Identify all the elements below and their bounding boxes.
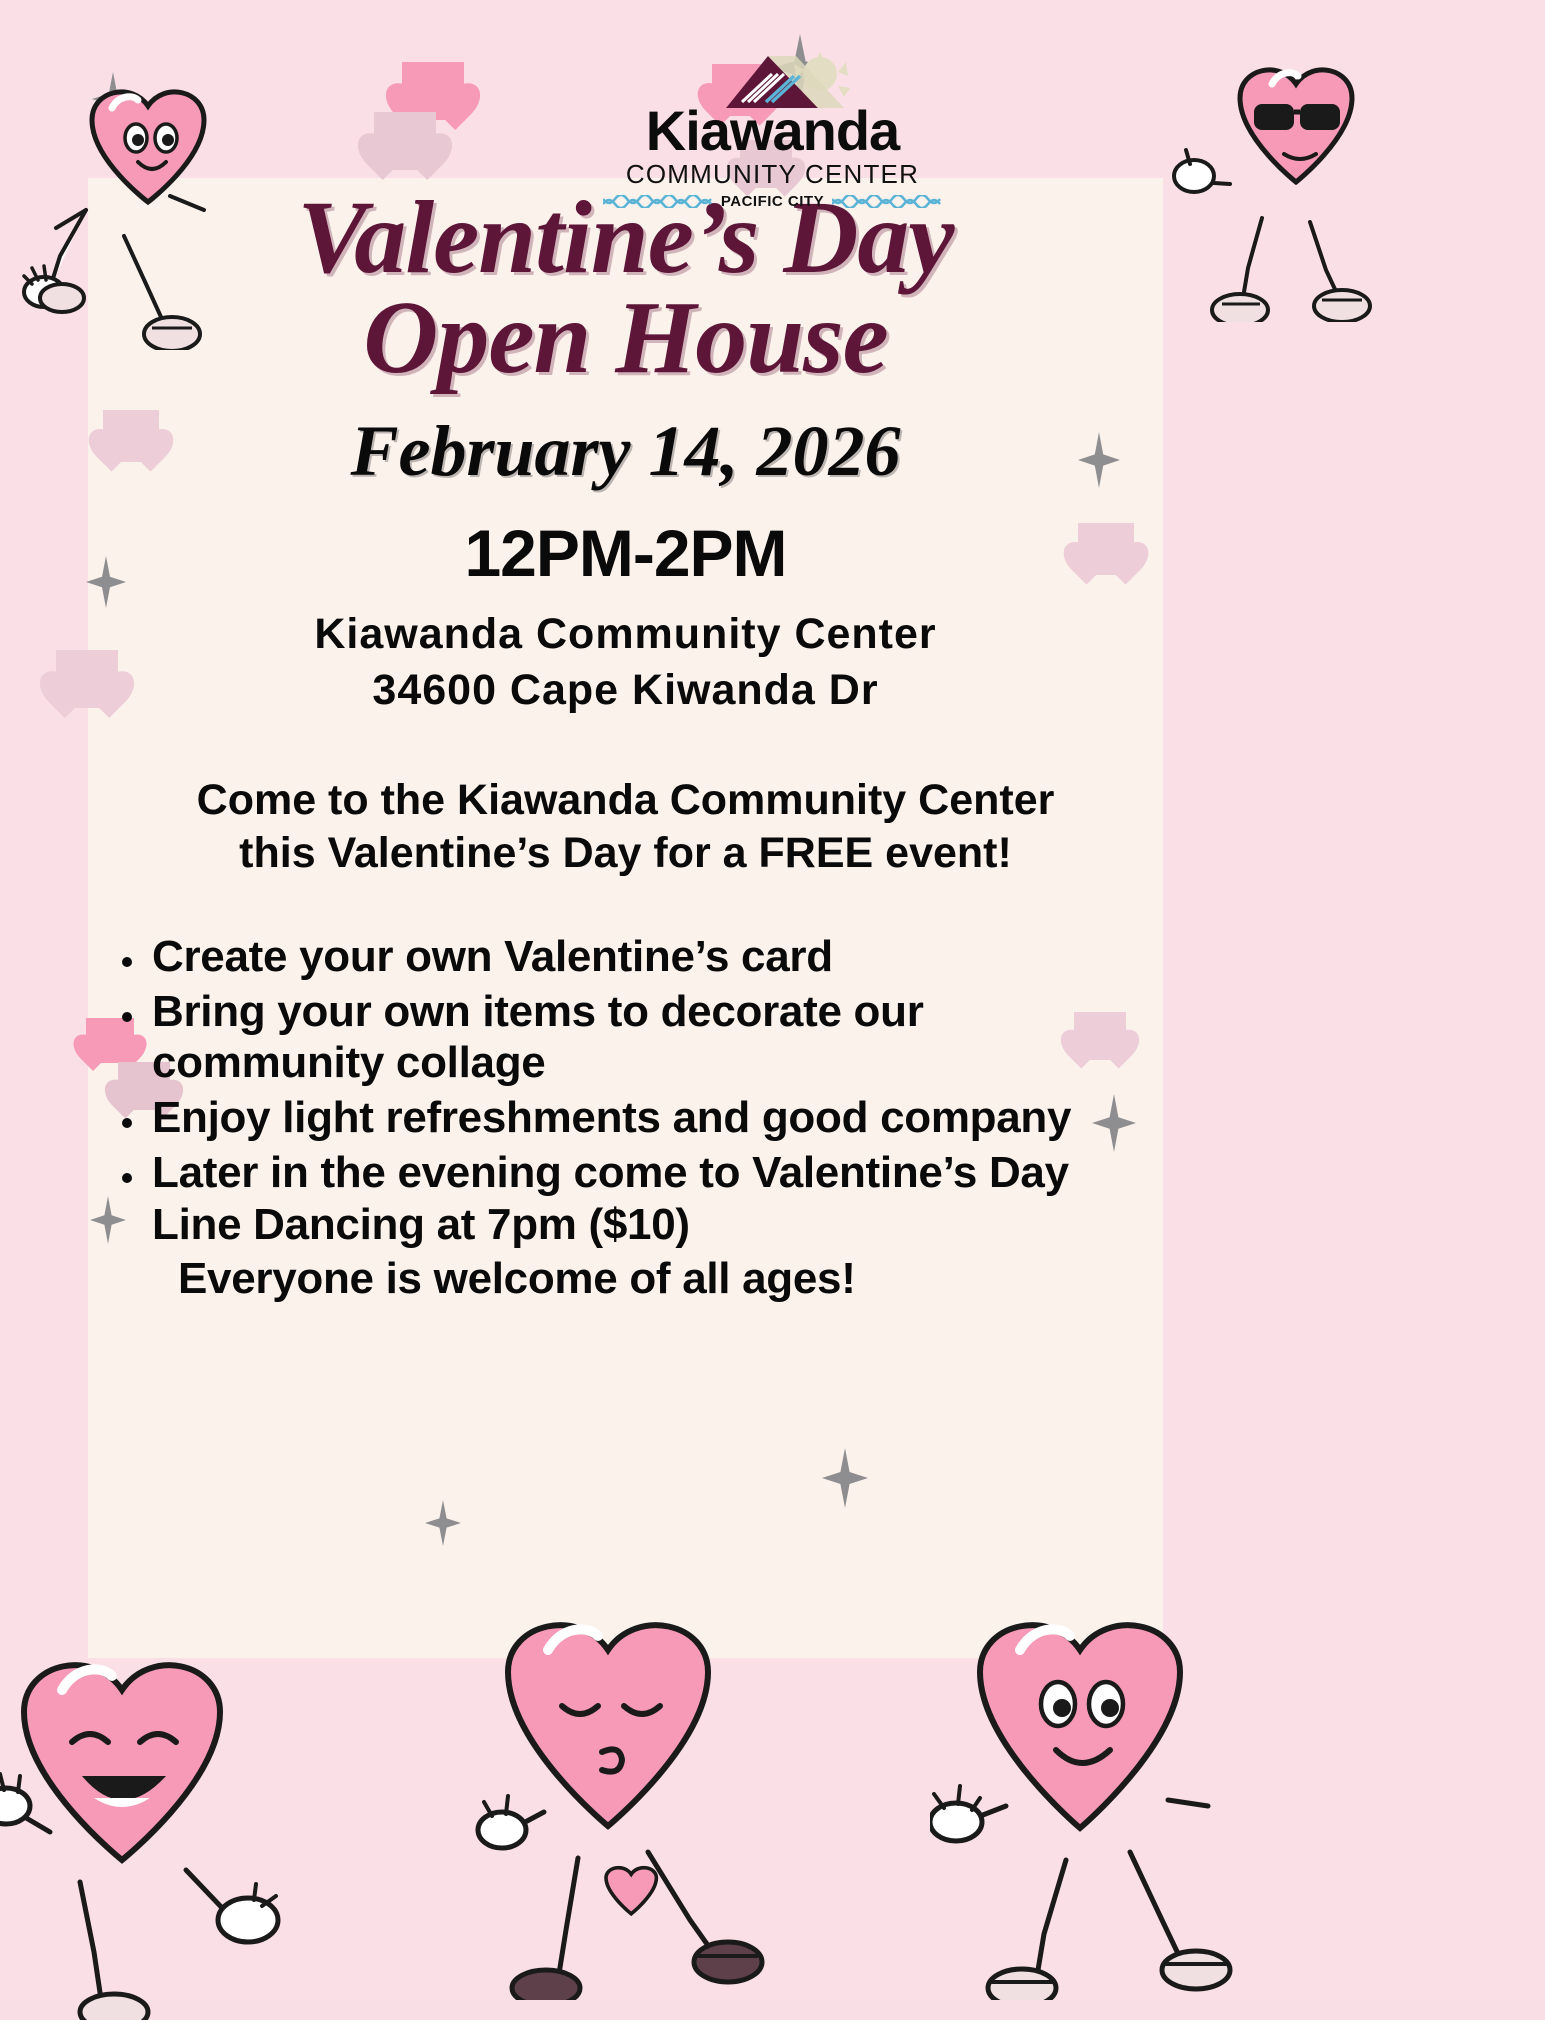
venue-address: 34600 Cape Kiwanda Dr [88,663,1163,719]
event-date: February 14, 2026 [88,410,1163,493]
event-time: 12PM-2PM [88,515,1163,591]
closing-line: Everyone is welcome of all ages! [88,1254,1163,1304]
wave-icon-left [603,195,713,208]
list-item: Enjoy light refreshments and good compan… [116,1092,1159,1143]
heart-character-bottom-left [0,1620,320,2020]
logo-mark-icon [668,52,878,114]
list-item: Later in the evening come to Valentine’s… [116,1147,1159,1249]
lede-line-2: this Valentine’s Day for a FREE event! [88,827,1163,879]
logo-city: PACIFIC CITY [721,193,824,210]
venue-name: Kiawanda Community Center [88,607,1163,663]
lede-line-1: Come to the Kiawanda Community Center [88,774,1163,826]
wave-icon-right [832,195,942,208]
heart-character-top-left [20,60,260,350]
event-venue: Kiawanda Community Center 34600 Cape Kiw… [88,607,1163,719]
activity-list: Create your own Valentine’s card Bring y… [88,931,1163,1249]
heart-character-bottom-center [470,1590,800,2000]
list-item: Create your own Valentine’s card [116,931,1159,982]
heart-character-bottom-right [930,1590,1260,2000]
heart-character-top-right [1170,42,1420,322]
list-item: Bring your own items to decorate our com… [116,986,1159,1088]
event-lede: Come to the Kiawanda Community Center th… [88,774,1163,879]
